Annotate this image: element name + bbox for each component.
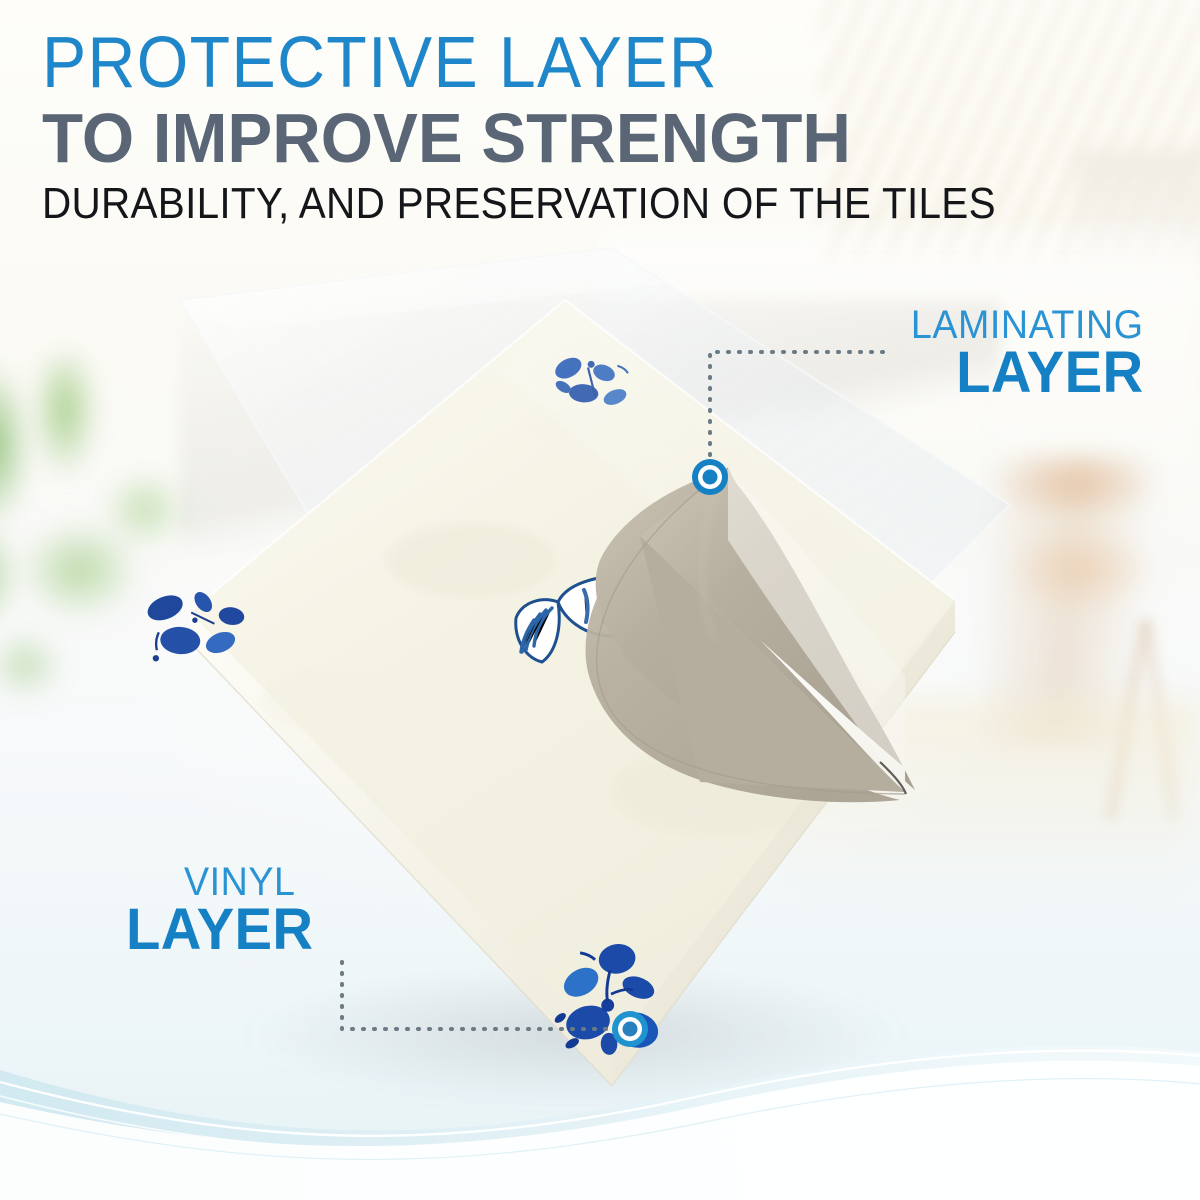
headline-line-3: DURABILITY, AND PRESERVATION OF THE TILE… — [42, 180, 1072, 228]
callout-laminating-layer: LAMINATING LAYER — [896, 305, 1144, 401]
callout-laminating-bold: LAYER — [904, 345, 1144, 401]
headline-line-2: TO IMPROVE STRENGTH — [42, 102, 1117, 174]
callout-vinyl-thin: VINYL — [184, 862, 311, 902]
callout-laminating-thin: LAMINATING — [911, 305, 1144, 345]
infographic-canvas: PROTECTIVE LAYER TO IMPROVE STRENGTH DUR… — [0, 0, 1200, 1200]
headline-block: PROTECTIVE LAYER TO IMPROVE STRENGTH DUR… — [42, 26, 1162, 228]
bottom-wave-decoration — [0, 1030, 1200, 1200]
callout-vinyl-bold: LAYER — [126, 902, 313, 958]
headline-line-1: PROTECTIVE LAYER — [42, 26, 1072, 100]
callout-vinyl-layer: VINYL LAYER — [126, 862, 319, 958]
